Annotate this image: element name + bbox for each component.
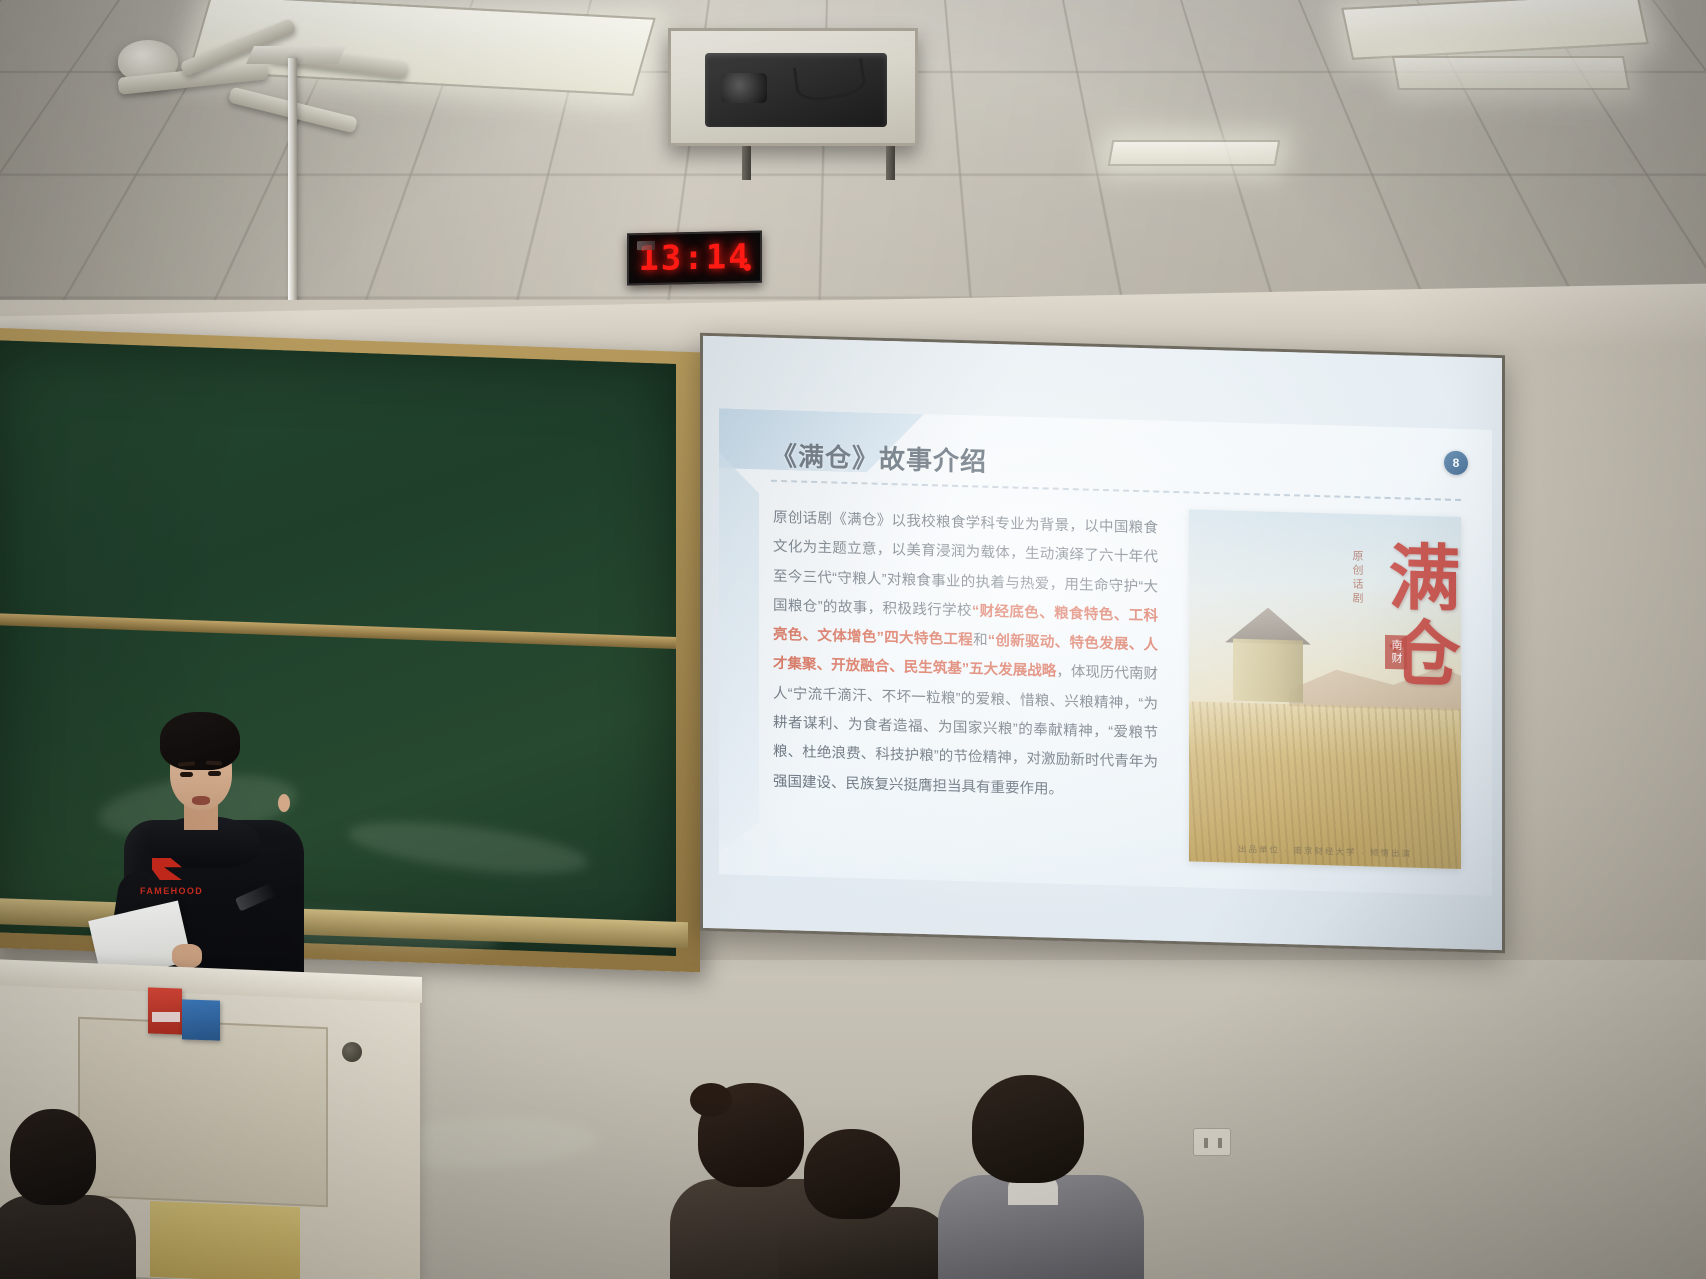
grain-silo-icon bbox=[1233, 639, 1303, 703]
audience-left-edge bbox=[0, 1129, 130, 1279]
audience-hair-bun bbox=[690, 1083, 732, 1117]
wall-power-socket bbox=[1193, 1128, 1231, 1156]
presenter-ear bbox=[278, 794, 290, 812]
projector-lens-icon bbox=[721, 73, 767, 103]
presenter-hand bbox=[172, 944, 202, 968]
ceiling-light-panel bbox=[1392, 56, 1630, 90]
slide-body-mid1: 和 bbox=[973, 633, 988, 649]
presenter-eye bbox=[208, 771, 221, 776]
presenter-hair bbox=[160, 712, 240, 770]
slide-side-ribbon bbox=[719, 452, 759, 853]
audience-center-right bbox=[788, 1139, 938, 1279]
podium-leg bbox=[150, 1201, 300, 1279]
chalk-box-blue bbox=[182, 999, 220, 1040]
audience-right-grey bbox=[950, 1083, 1130, 1279]
poster-seal-stamp: 南财 bbox=[1385, 635, 1407, 670]
chalk-smudge bbox=[347, 812, 590, 883]
audience-head bbox=[972, 1075, 1084, 1183]
audience-head bbox=[804, 1129, 900, 1219]
presenter-mouth bbox=[192, 796, 210, 805]
ceiling-projector bbox=[668, 28, 918, 146]
screen-surface: 《满仓》故事介绍 8 原创话剧《满仓》以我校粮食学科专业为背景，以中国粮食文化为… bbox=[703, 336, 1502, 950]
digital-wall-clock: 13:14 bbox=[627, 231, 762, 286]
chalk-box-red bbox=[148, 987, 182, 1034]
ceiling-light-panel bbox=[1108, 140, 1281, 166]
presenter-eye bbox=[180, 772, 193, 777]
poster-subtitle: 原创话剧 bbox=[1349, 550, 1365, 606]
projector-mount-leg bbox=[742, 146, 751, 180]
poster-title-calligraphy: 满仓 bbox=[1382, 539, 1451, 693]
audience-torso bbox=[0, 1195, 136, 1279]
projector-housing bbox=[705, 53, 887, 127]
podium-knob-icon bbox=[342, 1042, 362, 1062]
hoodie-brand-text: FAMEHOOD bbox=[140, 878, 226, 904]
slide-body-text: 原创话剧《满仓》以我校粮食学科专业为背景，以中国粮食文化为主题立意，以美育浸润为… bbox=[773, 504, 1158, 808]
ceiling-fan bbox=[118, 40, 178, 82]
slide-body-part1: 原创话剧《满仓》以我校粮食学科专业为背景，以中国粮食文化为主题立意，以美育浸润为… bbox=[773, 510, 1158, 619]
slide-poster-image: 原创话剧 满仓 南财 出品单位 · 南京财经大学 · 倾情出演 bbox=[1189, 509, 1461, 869]
classroom-photo-scene: 13:14 《满仓》故事介绍 8 原创话剧《满仓》以我校粮食学科专业为背景，以中… bbox=[0, 0, 1706, 1279]
slide-body-part2: ，体现历代南财人“宁流千滴汗、不坏一粒粮”的爱粮、惜粮、兴粮精神，“为耕者谋利、… bbox=[773, 664, 1158, 797]
clock-brand-logo bbox=[637, 241, 655, 250]
slide-title: 《满仓》故事介绍 bbox=[771, 436, 987, 479]
presentation-slide: 《满仓》故事介绍 8 原创话剧《满仓》以我校粮食学科专业为背景，以中国粮食文化为… bbox=[719, 408, 1492, 896]
audience-head bbox=[10, 1109, 96, 1205]
slide-page-badge: 8 bbox=[1444, 451, 1468, 476]
projector-mount-leg bbox=[886, 146, 895, 180]
projector-cable bbox=[793, 58, 867, 103]
projection-screen: 《满仓》故事介绍 8 原创话剧《满仓》以我校粮食学科专业为背景，以中国粮食文化为… bbox=[700, 333, 1505, 953]
green-chalkboard bbox=[0, 340, 676, 956]
chalk-box-label bbox=[152, 1012, 180, 1022]
clock-time-display: 13:14 bbox=[638, 240, 750, 276]
slide-title-divider bbox=[771, 480, 1461, 501]
